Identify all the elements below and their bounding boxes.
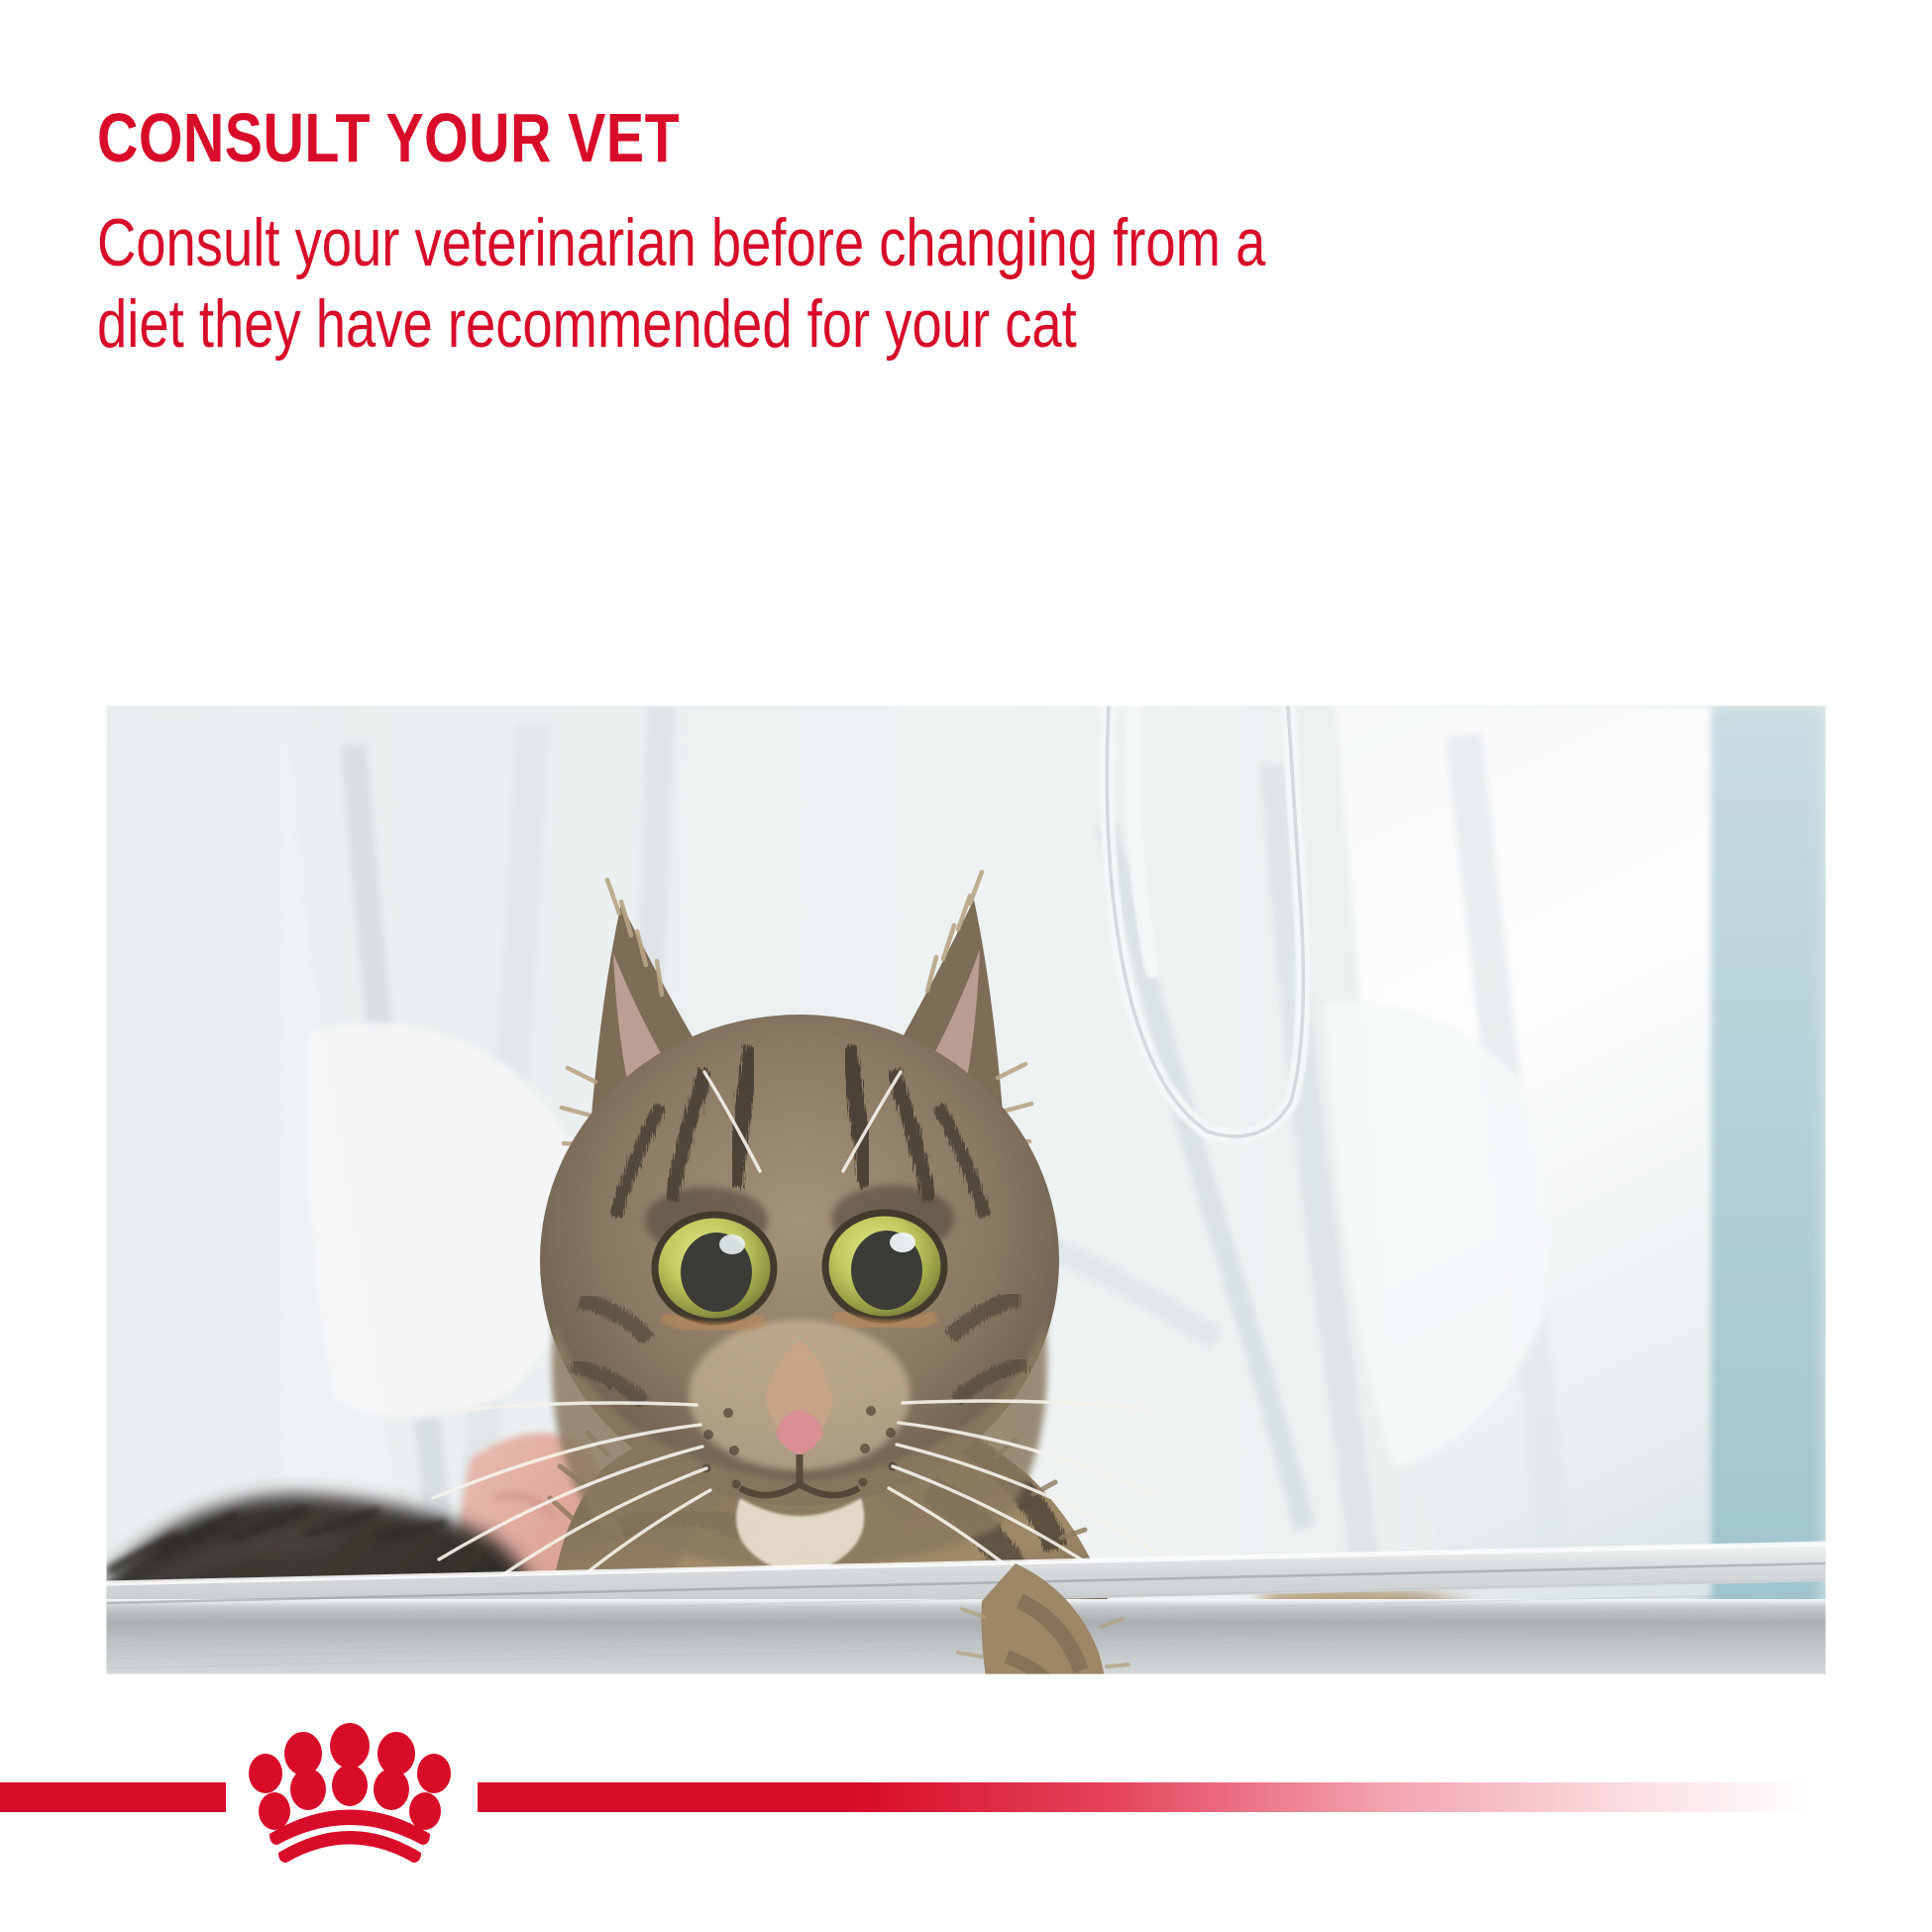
footer-bar-right: [478, 1782, 1810, 1812]
page-title: CONSULT YOUR VET: [97, 95, 1153, 180]
hero-photo: [106, 705, 1826, 1674]
page-subcopy: Consult your veterinarian before changin…: [97, 180, 1286, 365]
footer-bar-left: [0, 1782, 226, 1812]
vet-and-cat-illustration: [106, 705, 1826, 1674]
promo-text-block: CONSULT YOUR VET Consult your veterinari…: [97, 95, 1385, 365]
royal-canin-crown-logo: [246, 1720, 454, 1869]
crown-icon: [246, 1720, 454, 1869]
